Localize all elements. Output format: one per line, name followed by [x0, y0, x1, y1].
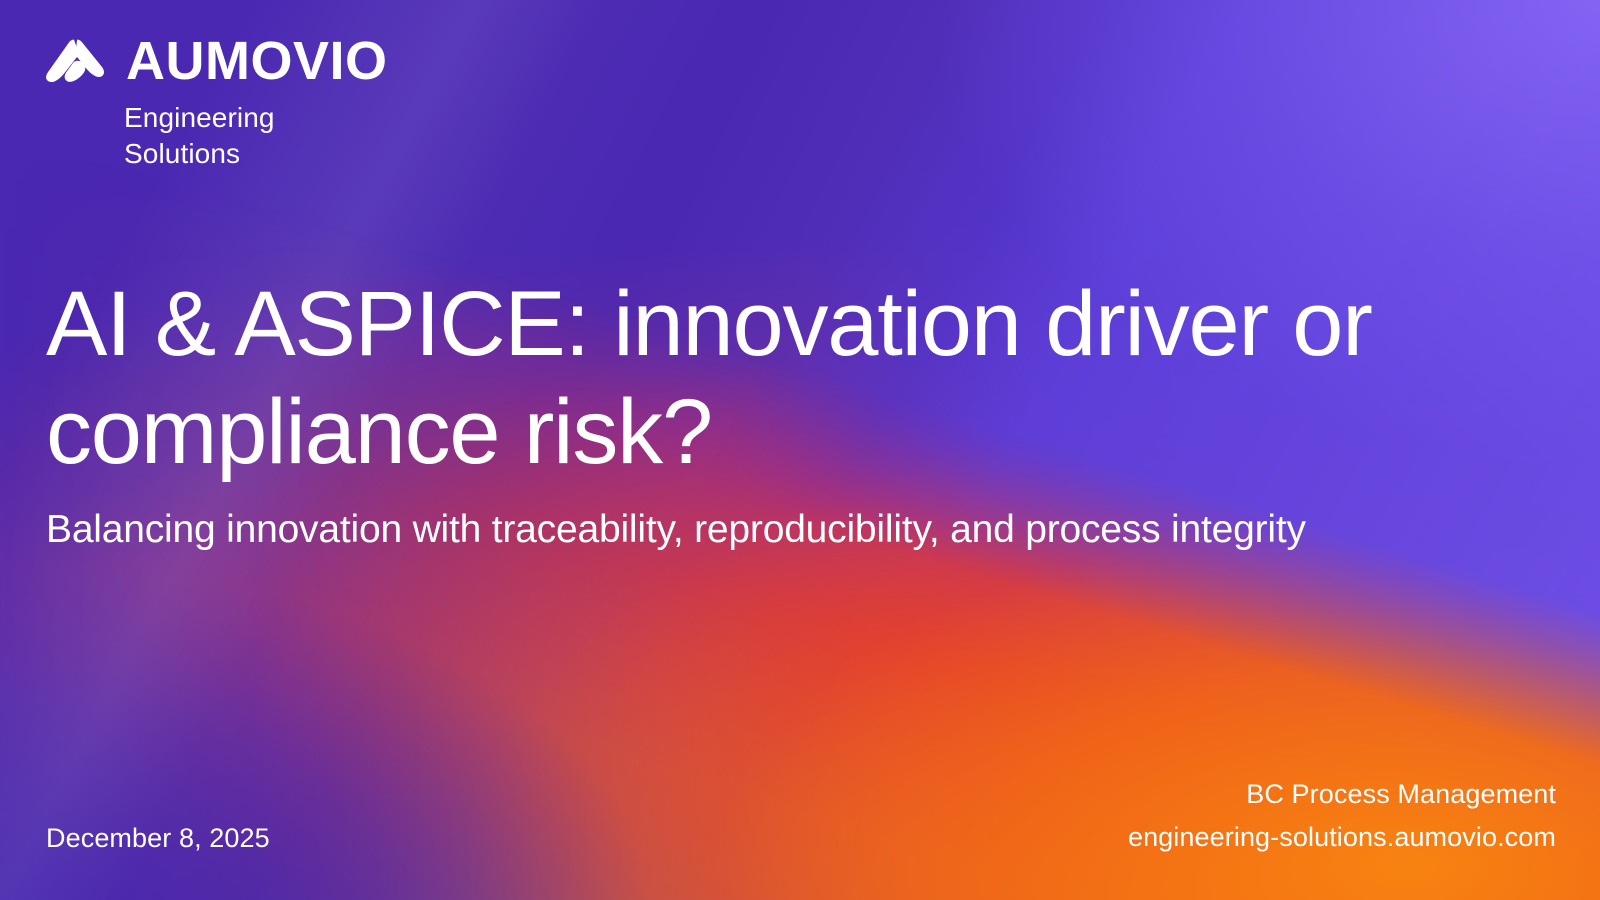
aumovio-mountain-mark-icon	[44, 38, 106, 84]
logo-row: AUMOVIO	[44, 34, 388, 88]
presentation-slide: AUMOVIO Engineering Solutions AI & ASPIC…	[0, 0, 1600, 900]
website-url[interactable]: engineering-solutions.aumovio.com	[1128, 816, 1556, 860]
slide-date: December 8, 2025	[46, 823, 270, 854]
slide-subtitle: Balancing innovation with traceability, …	[46, 503, 1406, 557]
brand-tagline: Engineering Solutions	[124, 100, 388, 173]
slide-title: AI & ASPICE: innovation driver or compli…	[46, 270, 1476, 487]
brand-lockup: AUMOVIO Engineering Solutions	[44, 34, 388, 173]
brand-wordmark: AUMOVIO	[126, 34, 388, 88]
brand-tagline-line-2: Solutions	[124, 136, 388, 172]
brand-tagline-line-1: Engineering	[124, 100, 388, 136]
department-label: BC Process Management	[1128, 773, 1556, 817]
slide-content: AUMOVIO Engineering Solutions AI & ASPIC…	[0, 0, 1600, 900]
slide-footer-right: BC Process Management engineering-soluti…	[1128, 773, 1556, 860]
